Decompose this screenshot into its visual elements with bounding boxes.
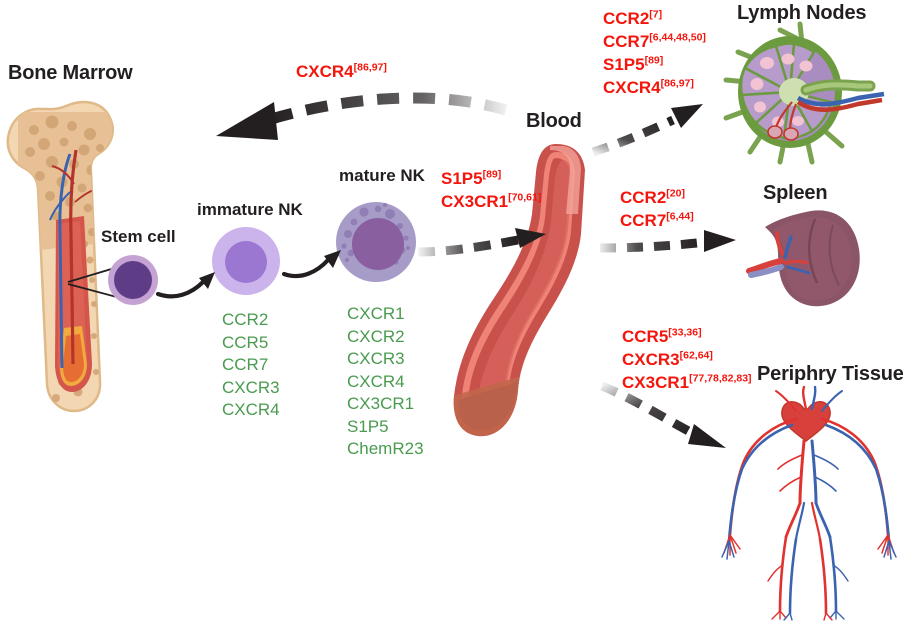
- stem-cell-illustration: [103, 250, 163, 310]
- mature-nk-title: mature NK: [339, 167, 425, 186]
- receptor-name: CCR5: [622, 327, 668, 346]
- homing-to-bone-marrow-receptor-labels: CXCR4[86,97]: [296, 60, 387, 83]
- receptor-item: CXCR4: [347, 371, 424, 394]
- receptor-label: CCR7[6,44,48,50]: [603, 30, 706, 53]
- receptor-label: CXCR4[86,97]: [603, 76, 706, 99]
- arrow-blood-to-bone-marrow: [158, 84, 508, 154]
- arrow-stem-to-immature: [155, 256, 225, 302]
- diagram-canvas: Bone Marrow: [0, 0, 903, 624]
- receptor-name: CCR2: [620, 188, 666, 207]
- arrow-blood-to-lymph-nodes: [589, 100, 729, 160]
- receptor-label: CCR2[7]: [603, 7, 706, 30]
- bone-marrow-title: Bone Marrow: [8, 62, 132, 84]
- receptor-item: CX3CR1: [347, 393, 424, 416]
- receptor-label: CXCR4[86,97]: [296, 60, 387, 83]
- receptor-item: CCR5: [222, 332, 280, 355]
- receptor-item: CXCR4: [222, 399, 280, 422]
- stem-cell-title: Stem cell: [101, 228, 176, 247]
- receptor-name: CXCR4: [603, 78, 661, 97]
- arrow-mature-to-blood: [416, 222, 556, 266]
- arrow-immature-to-mature: [281, 238, 351, 284]
- lymph-node-illustration: [718, 22, 898, 167]
- receptor-refs: [33,36]: [668, 326, 701, 338]
- blood-title: Blood: [526, 110, 582, 132]
- receptor-item: CXCR3: [222, 377, 280, 400]
- receptor-refs: [86,97]: [661, 77, 694, 89]
- receptor-label: S1P5[89]: [603, 53, 706, 76]
- receptor-refs: [89]: [483, 168, 502, 180]
- receptor-item: CXCR2: [347, 326, 424, 349]
- receptor-name: CXCR4: [296, 62, 354, 81]
- arrow-blood-to-spleen: [596, 228, 746, 264]
- immature-nk-receptor-list: CCR2 CCR5 CCR7 CXCR3 CXCR4: [222, 309, 280, 422]
- receptor-item: CXCR3: [347, 348, 424, 371]
- receptor-refs: [62,64]: [680, 349, 713, 361]
- receptor-label: CXCR3[62,64]: [622, 348, 752, 371]
- spleen-title: Spleen: [763, 182, 827, 204]
- receptor-name: CXCR3: [622, 350, 680, 369]
- receptor-label: S1P5[89]: [441, 167, 541, 190]
- to-spleen-receptor-labels: CCR2[20] CCR7[6,44]: [620, 186, 694, 232]
- lymph-nodes-title: Lymph Nodes: [737, 2, 866, 24]
- receptor-item: CXCR1: [347, 303, 424, 326]
- receptor-name: CCR7: [603, 32, 649, 51]
- arrow-blood-to-periphry: [598, 378, 758, 458]
- receptor-name: S1P5: [441, 169, 483, 188]
- periphry-tissues-title: Periphry Tissues: [757, 363, 903, 385]
- receptor-refs: [6,44,48,50]: [649, 31, 706, 43]
- receptor-refs: [6,44]: [666, 210, 693, 222]
- spleen-illustration: [745, 205, 895, 310]
- receptor-label: CX3CR1[70,61]: [441, 190, 541, 213]
- receptor-item: CCR2: [222, 309, 280, 332]
- egress-to-blood-receptor-labels: S1P5[89] CX3CR1[70,61]: [441, 167, 541, 213]
- receptor-name: S1P5: [603, 55, 645, 74]
- receptor-label: CCR2[20]: [620, 186, 694, 209]
- receptor-item: CCR7: [222, 354, 280, 377]
- receptor-name: CCR2: [603, 9, 649, 28]
- receptor-item: ChemR23: [347, 438, 424, 461]
- to-lymph-nodes-receptor-labels: CCR2[7] CCR7[6,44,48,50] S1P5[89] CXCR4[…: [603, 7, 706, 99]
- receptor-label: CCR5[33,36]: [622, 325, 752, 348]
- receptor-refs: [70,61]: [508, 191, 541, 203]
- mature-nk-receptor-list: CXCR1 CXCR2 CXCR3 CXCR4 CX3CR1 S1P5 Chem…: [347, 303, 424, 461]
- receptor-refs: [89]: [645, 54, 664, 66]
- receptor-refs: [86,97]: [354, 61, 387, 73]
- receptor-name: CX3CR1: [441, 192, 508, 211]
- receptor-refs: [7]: [649, 8, 662, 20]
- receptor-refs: [20]: [666, 187, 685, 199]
- immature-nk-title: immature NK: [197, 201, 303, 220]
- receptor-item: S1P5: [347, 416, 424, 439]
